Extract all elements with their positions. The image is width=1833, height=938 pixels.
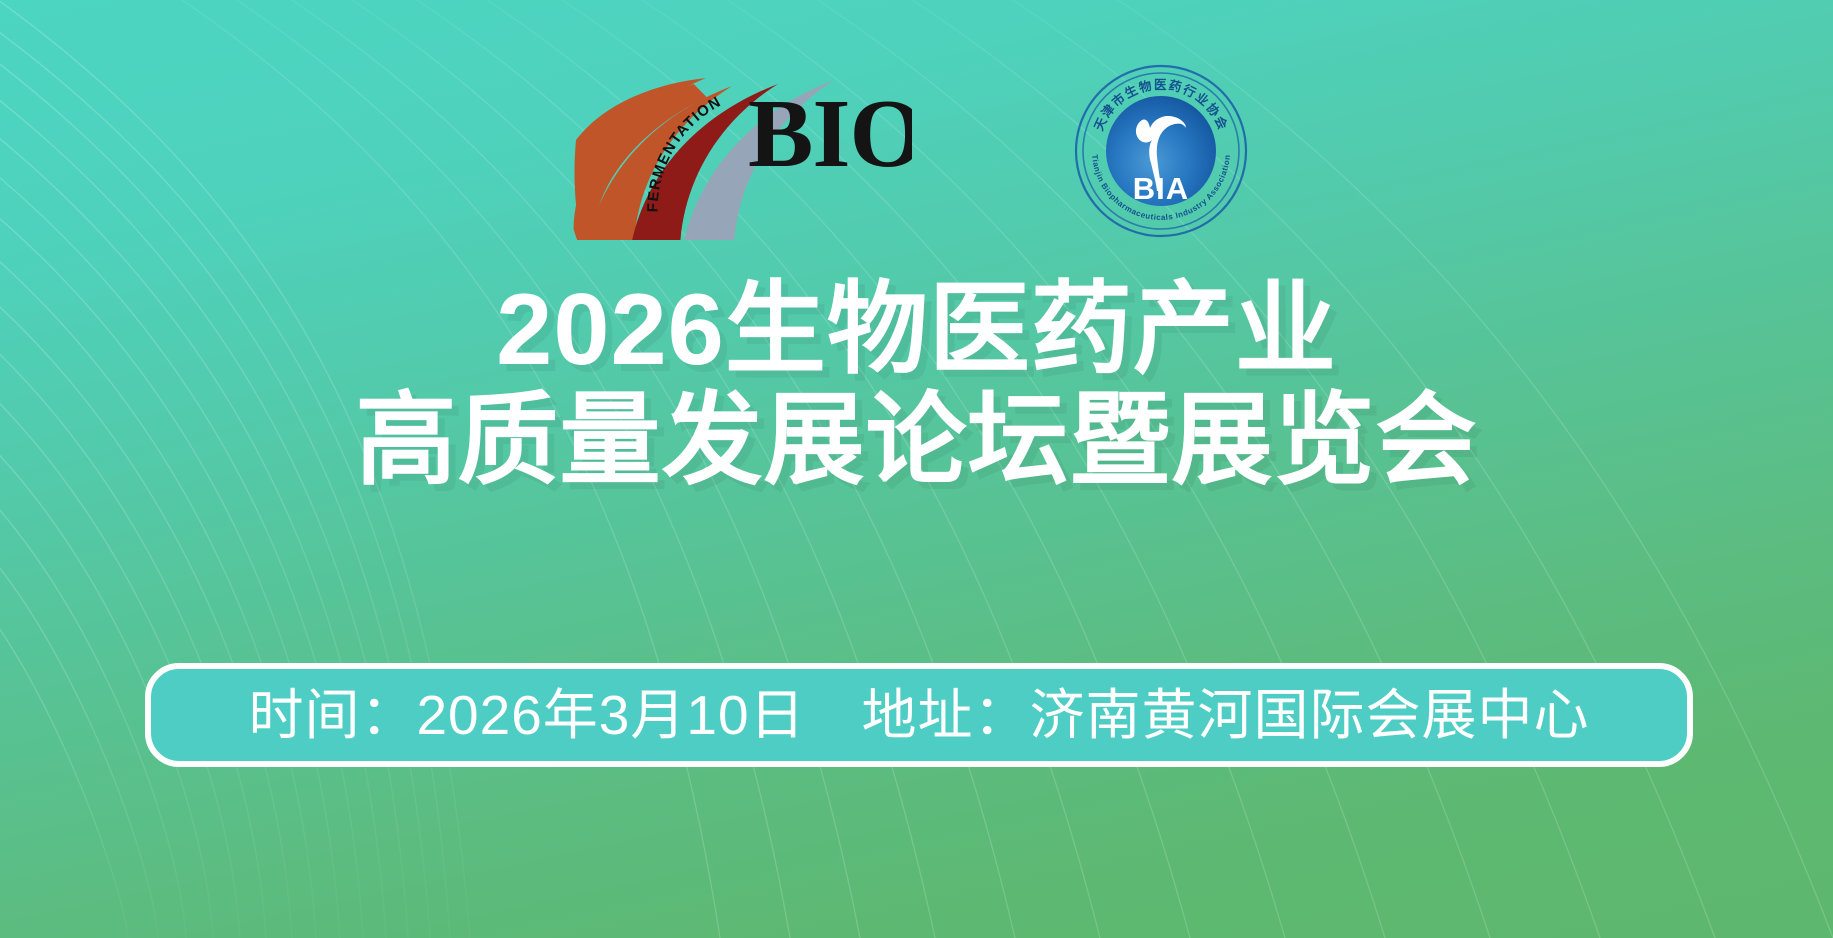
svg-text:BIO: BIO <box>748 80 912 188</box>
bio-fermentation-logo: FERMENTATION BIO <box>572 70 912 240</box>
poster-title: 2026生物医药产业 高质量发展论坛暨展览会 <box>0 272 1833 500</box>
title-line-1: 2026生物医药产业 <box>0 272 1833 389</box>
event-poster: FERMENTATION BIO <box>0 0 1833 938</box>
event-info-bar: 时间：2026年3月10日 地址：济南黄河国际会展中心 <box>145 663 1693 767</box>
logo-row: FERMENTATION BIO <box>0 60 1833 240</box>
bia-association-logo: BIA 天津市生物医药行业协会 Tianjin Biopharmaceutica… <box>1072 62 1250 240</box>
svg-text:BIA: BIA <box>1133 171 1189 206</box>
event-info-text: 时间：2026年3月10日 地址：济南黄河国际会展中心 <box>248 688 1589 743</box>
title-line-2: 高质量发展论坛暨展览会 <box>0 383 1833 500</box>
